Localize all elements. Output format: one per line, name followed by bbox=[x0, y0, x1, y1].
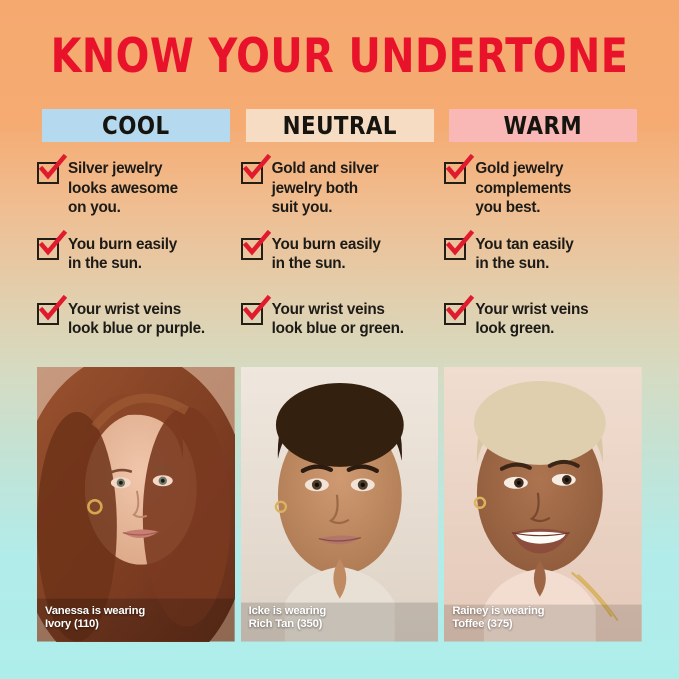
list-item: You burn easily in the sun. bbox=[37, 235, 235, 283]
checkmark-icon bbox=[242, 231, 272, 261]
checkmark-icon bbox=[242, 296, 272, 326]
list-item: Gold and silver jewelry both suit you. bbox=[241, 159, 439, 218]
model-photo-cool: Vanessa is wearing Ivory (110) bbox=[37, 367, 235, 642]
checkbox-checked[interactable] bbox=[241, 162, 263, 184]
list-item: You tan easily in the sun. bbox=[444, 235, 642, 283]
column-neutral: NEUTRAL Gold and silver jewelry both sui… bbox=[241, 109, 439, 365]
list-item-label: Your wrist veins look green. bbox=[475, 300, 588, 339]
list-item: Silver jewelry looks awesome on you. bbox=[37, 159, 235, 218]
checklist-neutral: Gold and silver jewelry both suit you. Y… bbox=[241, 159, 439, 365]
model-photo-warm: Rainey is wearing Toffee (375) bbox=[444, 367, 642, 642]
checkbox-checked[interactable] bbox=[444, 162, 466, 184]
list-item-label: Gold and silver jewelry both suit you. bbox=[272, 159, 379, 218]
column-cool: COOL Silver jewelry looks awesome on you… bbox=[37, 109, 235, 365]
model-photo-row: Vanessa is wearing Ivory (110) bbox=[37, 367, 642, 642]
photo-caption-cool: Vanessa is wearing Ivory (110) bbox=[45, 605, 145, 631]
checkmark-icon bbox=[445, 231, 475, 261]
list-item-label: You burn easily in the sun. bbox=[68, 235, 177, 274]
model-photo-neutral: Icke is wearing Rich Tan (350) bbox=[241, 367, 439, 642]
model-portrait-rainey bbox=[444, 367, 642, 642]
checkbox-checked[interactable] bbox=[241, 303, 263, 325]
list-item-label: Your wrist veins look blue or green. bbox=[272, 300, 404, 339]
checklist-warm: Gold jewelry complements you best. You t… bbox=[444, 159, 642, 365]
list-item-label: You burn easily in the sun. bbox=[272, 235, 381, 274]
list-item-label: Silver jewelry looks awesome on you. bbox=[68, 159, 178, 218]
checkmark-icon bbox=[445, 155, 475, 185]
checkmark-icon bbox=[38, 155, 68, 185]
page-title: KNOW YOUR UNDERTONE bbox=[20, 33, 658, 80]
list-item: Your wrist veins look blue or purple. bbox=[37, 300, 235, 348]
column-warm: WARM Gold jewelry complements you best. bbox=[444, 109, 642, 365]
undertone-infographic: KNOW YOUR UNDERTONE COOL Silver jewelry … bbox=[0, 0, 679, 679]
checkbox-checked[interactable] bbox=[444, 303, 466, 325]
list-item: You burn easily in the sun. bbox=[241, 235, 439, 283]
model-portrait-icke bbox=[241, 367, 439, 642]
column-header-neutral: NEUTRAL bbox=[246, 109, 434, 142]
list-item: Your wrist veins look green. bbox=[444, 300, 642, 348]
list-item-label: Gold jewelry complements you best. bbox=[475, 159, 571, 218]
checkbox-checked[interactable] bbox=[37, 162, 59, 184]
list-item-label: Your wrist veins look blue or purple. bbox=[68, 300, 205, 339]
list-item: Your wrist veins look blue or green. bbox=[241, 300, 439, 348]
checkbox-checked[interactable] bbox=[37, 303, 59, 325]
column-header-warm: WARM bbox=[449, 109, 637, 142]
checkmark-icon bbox=[38, 231, 68, 261]
photo-caption-warm: Rainey is wearing Toffee (375) bbox=[452, 605, 544, 631]
checkbox-checked[interactable] bbox=[241, 238, 263, 260]
list-item: Gold jewelry complements you best. bbox=[444, 159, 642, 218]
checkmark-icon bbox=[38, 296, 68, 326]
photo-caption-neutral: Icke is wearing Rich Tan (350) bbox=[249, 605, 326, 631]
checkmark-icon bbox=[445, 296, 475, 326]
checkmark-icon bbox=[242, 155, 272, 185]
checkbox-checked[interactable] bbox=[444, 238, 466, 260]
undertone-columns: COOL Silver jewelry looks awesome on you… bbox=[37, 109, 642, 365]
model-portrait-vanessa bbox=[37, 367, 235, 642]
column-header-cool: COOL bbox=[42, 109, 230, 142]
checkbox-checked[interactable] bbox=[37, 238, 59, 260]
list-item-label: You tan easily in the sun. bbox=[475, 235, 573, 274]
checklist-cool: Silver jewelry looks awesome on you. You… bbox=[37, 159, 235, 365]
